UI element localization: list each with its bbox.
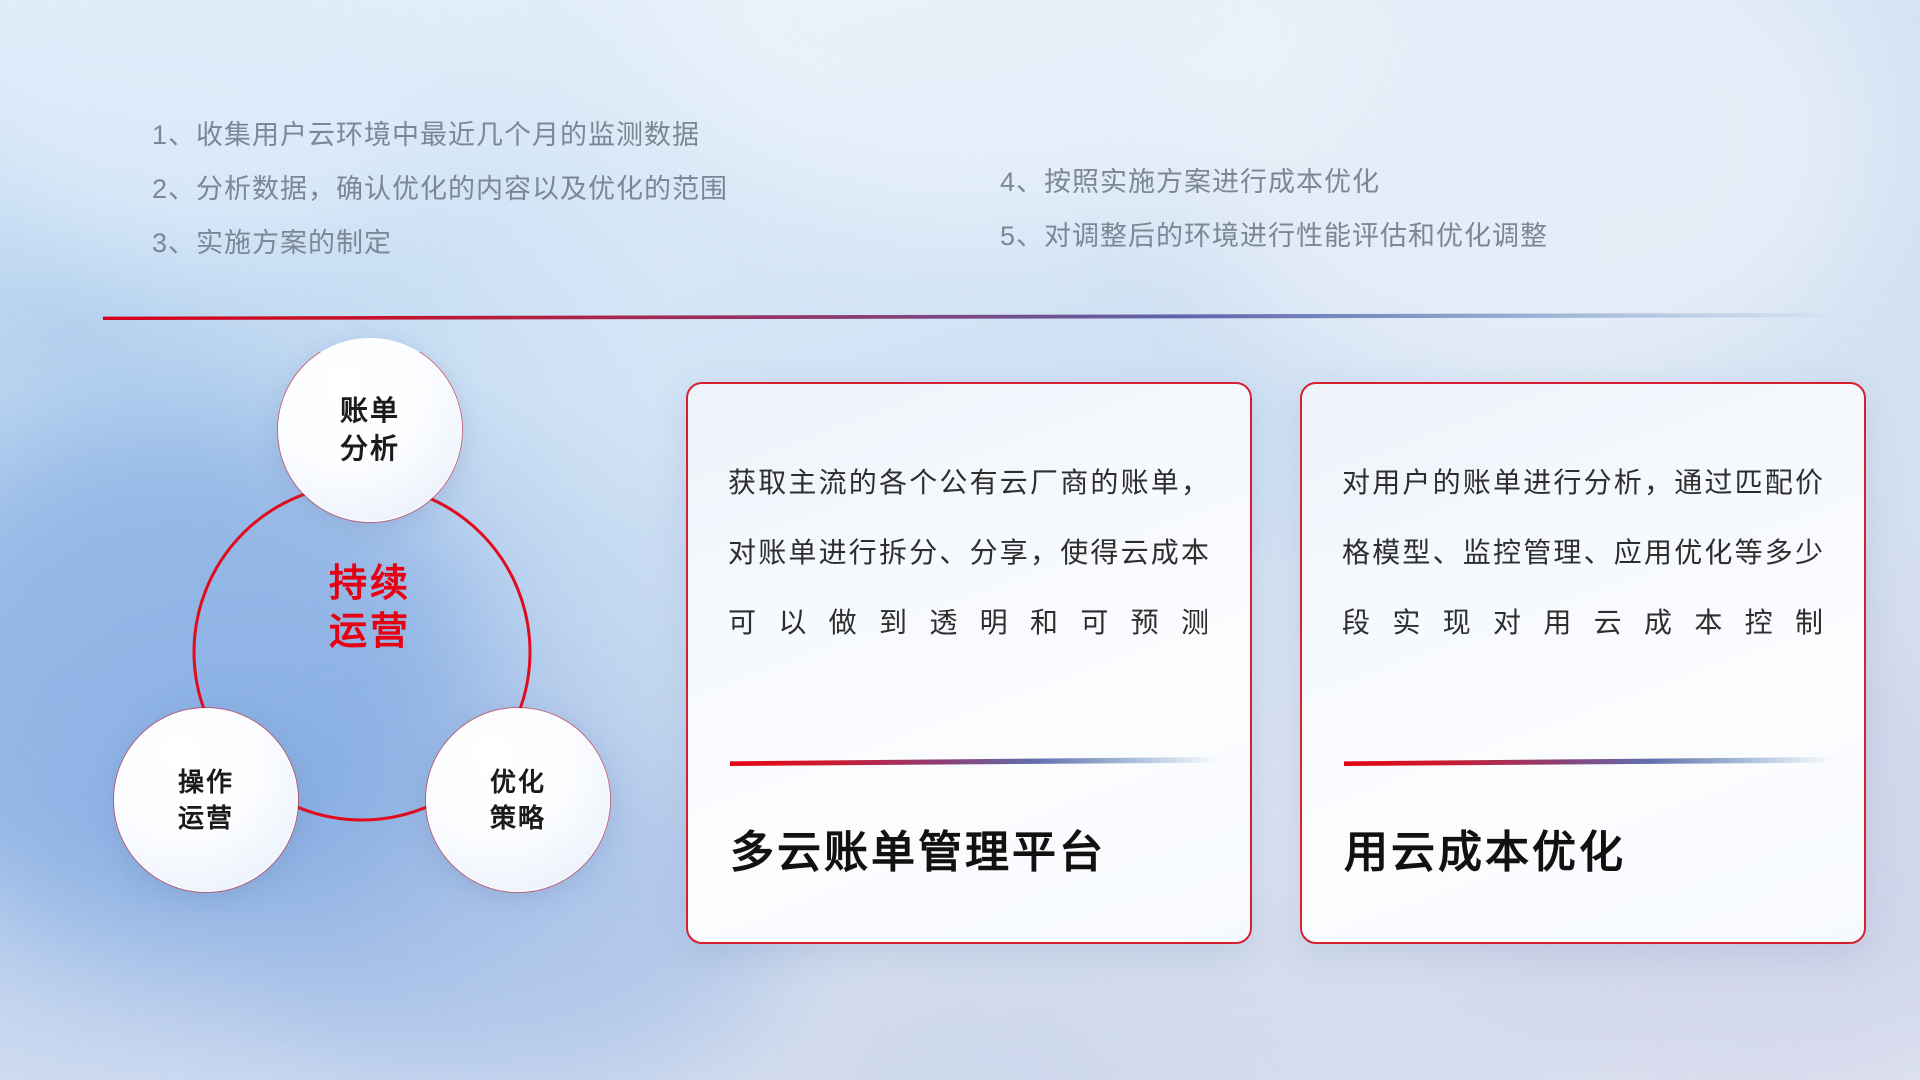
step-item: 2、分析数据，确认优化的内容以及优化的范围 <box>152 162 728 216</box>
cycle-node-operations[interactable]: 操作 运营 <box>114 708 298 892</box>
node-label-line1: 操作 <box>178 764 234 800</box>
cycle-node-billing-analysis[interactable]: 账单 分析 <box>278 338 462 522</box>
node-label-line2: 策略 <box>490 800 546 836</box>
step-item: 1、收集用户云环境中最近几个月的监测数据 <box>152 108 728 162</box>
cycle-node-optimization-strategy[interactable]: 优化 策略 <box>426 708 610 892</box>
card-body-text: 获取主流的各个公有云厂商的账单，对账单进行拆分、分享，使得云成本可以做到透明和可… <box>728 448 1210 658</box>
center-label-line2: 运营 <box>262 608 478 656</box>
feature-card-cloud-cost-optimization[interactable]: 对用户的账单进行分析，通过匹配价格模型、监控管理、应用优化等多少段实现对用云成本… <box>1300 382 1866 944</box>
node-label-line2: 分析 <box>340 430 400 468</box>
steps-left-column: 1、收集用户云环境中最近几个月的监测数据 2、分析数据，确认优化的内容以及优化的… <box>152 108 728 270</box>
node-label-line1: 优化 <box>490 764 546 800</box>
steps-right-column: 4、按照实施方案进行成本优化 5、对调整后的环境进行性能评估和优化调整 <box>1000 155 1548 263</box>
accent-divider-rule <box>103 313 1833 320</box>
card-title: 多云账单管理平台 <box>730 816 1106 880</box>
step-item: 3、实施方案的制定 <box>152 216 728 270</box>
cycle-diagram: 账单 分析 操作 运营 优化 策略 持续 运营 <box>96 352 636 952</box>
node-label-line2: 运营 <box>178 800 234 836</box>
step-item: 4、按照实施方案进行成本优化 <box>1000 155 1548 209</box>
slide-root: 1、收集用户云环境中最近几个月的监测数据 2、分析数据，确认优化的内容以及优化的… <box>0 0 1920 1080</box>
card-divider-rule <box>730 757 1216 766</box>
cycle-center-label: 持续 运营 <box>262 560 478 656</box>
node-label-line1: 账单 <box>340 392 400 430</box>
center-label-line1: 持续 <box>262 560 478 608</box>
step-item: 5、对调整后的环境进行性能评估和优化调整 <box>1000 209 1548 263</box>
feature-card-multicloud-billing[interactable]: 获取主流的各个公有云厂商的账单，对账单进行拆分、分享，使得云成本可以做到透明和可… <box>686 382 1252 944</box>
card-divider-rule <box>1344 757 1830 766</box>
card-body-text: 对用户的账单进行分析，通过匹配价格模型、监控管理、应用优化等多少段实现对用云成本… <box>1342 448 1824 658</box>
card-title: 用云成本优化 <box>1344 816 1626 880</box>
